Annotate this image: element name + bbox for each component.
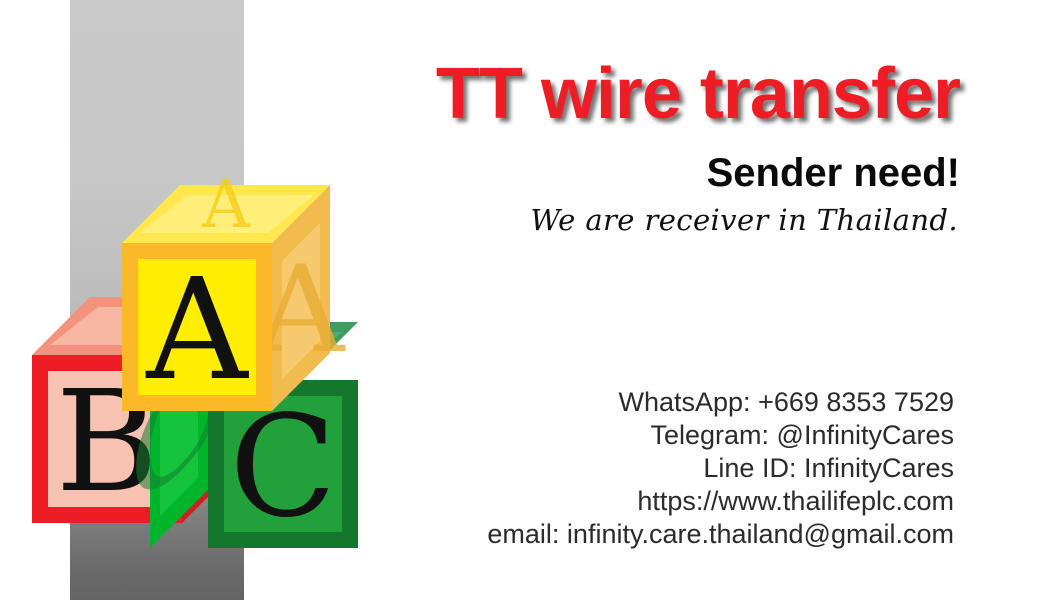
- subtitle: Sender need!: [400, 152, 960, 194]
- contact-line-lineid: Line ID: InfinityCares: [380, 452, 954, 485]
- abc-blocks-illustration: B C C A: [10, 165, 430, 580]
- svg-text:A: A: [201, 166, 251, 243]
- page-title: TT wire transfer: [270, 58, 960, 130]
- contact-line-website[interactable]: https://www.thailifeplc.com: [380, 485, 954, 518]
- contact-line-whatsapp: WhatsApp: +669 8353 7529: [380, 386, 954, 419]
- poster-canvas: B C C A: [0, 0, 1063, 600]
- tagline: We are receiver in Thailand.: [400, 205, 958, 237]
- contact-line-email[interactable]: email: infinity.care.thailand@gmail.com: [380, 518, 954, 551]
- yellow-block-a: A A A: [122, 166, 346, 412]
- svg-text:A: A: [145, 249, 249, 412]
- contact-details: WhatsApp: +669 8353 7529 Telegram: @Infi…: [380, 386, 954, 551]
- contact-line-telegram: Telegram: @InfinityCares: [380, 419, 954, 452]
